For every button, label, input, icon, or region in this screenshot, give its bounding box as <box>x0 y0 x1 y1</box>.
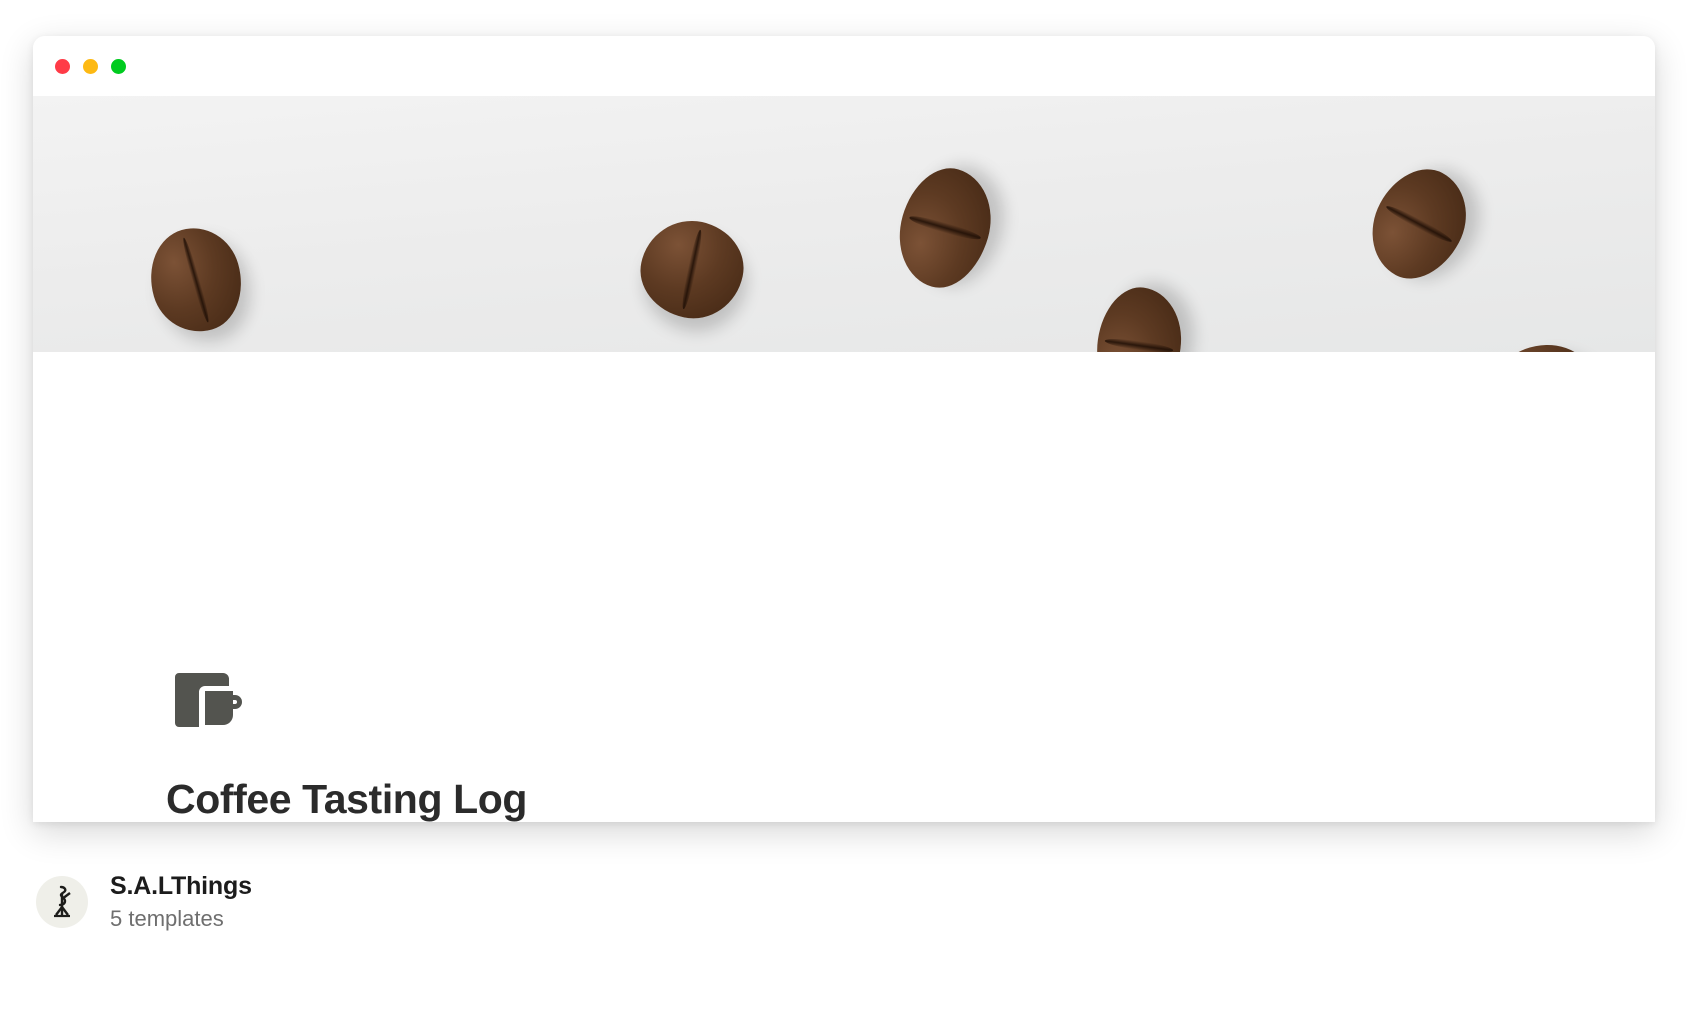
browser-window: Coffee Tasting Log New Entry <box>33 36 1655 822</box>
coffee-bean-icon <box>138 218 253 343</box>
coffee-machine-icon[interactable] <box>175 667 243 733</box>
close-window-button[interactable] <box>55 59 70 74</box>
screenshot-root: Coffee Tasting Log New Entry <box>0 0 1688 1034</box>
window-titlebar <box>33 36 1655 96</box>
page-body: Coffee Tasting Log New Entry <box>33 352 1655 822</box>
minimize-window-button[interactable] <box>83 59 98 74</box>
author-name: S.A.LThings <box>110 872 252 901</box>
zoom-window-button[interactable] <box>111 59 126 74</box>
template-count: 5 templates <box>110 906 252 932</box>
cover-photo <box>33 96 1655 352</box>
coffee-bean-icon <box>1354 154 1484 294</box>
coffee-bean-icon <box>1475 330 1609 352</box>
page-title: Coffee Tasting Log <box>166 776 527 822</box>
coffee-bean-icon <box>886 158 1004 298</box>
coffee-bean-icon <box>632 211 752 327</box>
avatar <box>36 876 88 928</box>
template-author[interactable]: S.A.LThings 5 templates <box>36 872 252 932</box>
coffee-bean-icon <box>1090 282 1188 352</box>
